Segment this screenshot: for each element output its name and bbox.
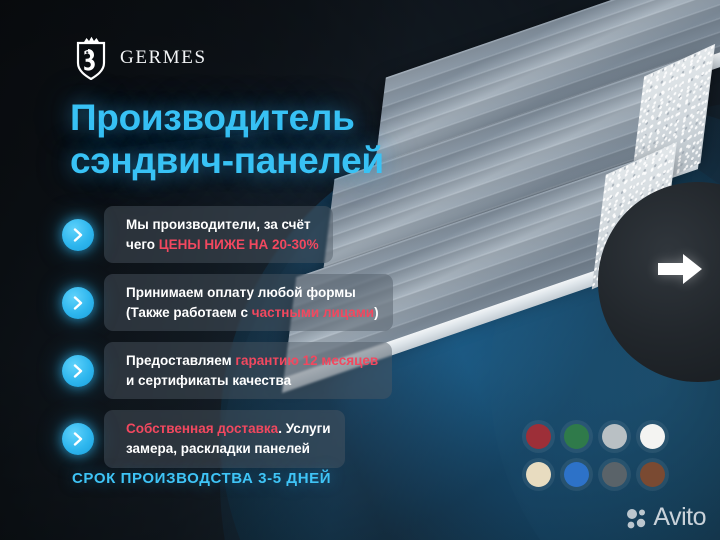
swatch-fill — [526, 424, 551, 449]
headline-line-1: Производитель — [70, 97, 355, 138]
color-swatch-brown[interactable] — [636, 458, 669, 491]
benefit-text-plain: чего — [126, 237, 159, 252]
page-title: Производитель сэндвич-панелей — [70, 96, 470, 183]
benefit-text-accent: гарантию 12 месяцев — [235, 353, 378, 368]
avito-watermark: Avito — [626, 505, 706, 530]
benefits-list: Мы производители, за счёт чего ЦЕНЫ НИЖЕ… — [62, 206, 432, 479]
benefit-line-1: Мы производители, за счёт — [126, 215, 319, 235]
color-swatch-dark-gray[interactable] — [598, 458, 631, 491]
color-swatch-cream[interactable] — [522, 458, 555, 491]
headline-line-2: сэндвич-панелей — [70, 139, 470, 182]
benefit-text: Принимаем оплату любой формы (Также рабо… — [104, 274, 393, 331]
benefit-line-1: Предоставляем гарантию 12 месяцев — [126, 351, 378, 371]
chevron-right-icon — [62, 423, 94, 455]
color-swatch-blue[interactable] — [560, 458, 593, 491]
arrow-right-icon — [658, 252, 702, 286]
swatch-fill — [640, 462, 665, 487]
list-item: Мы производители, за счёт чего ЦЕНЫ НИЖЕ… — [62, 206, 432, 263]
benefit-line-2: чего ЦЕНЫ НИЖЕ НА 20-30% — [126, 235, 319, 255]
avito-dots-icon — [626, 507, 648, 529]
chevron-right-icon — [62, 219, 94, 251]
benefit-text-accent: Собственная доставка — [126, 421, 278, 436]
color-swatch-light-gray[interactable] — [598, 420, 631, 453]
chevron-right-icon — [62, 355, 94, 387]
color-swatch-red[interactable] — [522, 420, 555, 453]
benefit-text: Собственная доставка. Услуги замера, рас… — [104, 410, 345, 467]
benefit-line-2: замера, раскладки панелей — [126, 439, 331, 459]
color-swatch-green[interactable] — [560, 420, 593, 453]
benefit-text: Мы производители, за счёт чего ЦЕНЫ НИЖЕ… — [104, 206, 333, 263]
benefit-text: Предоставляем гарантию 12 месяцев и серт… — [104, 342, 392, 399]
benefit-line-1: Принимаем оплату любой формы — [126, 283, 379, 303]
benefit-text-accent: частными лицами — [252, 305, 374, 320]
brand-name: GERMES — [120, 47, 207, 69]
panel-color-swatches — [522, 420, 669, 491]
swatch-fill — [564, 424, 589, 449]
swatch-fill — [526, 462, 551, 487]
benefit-text-plain: Предоставляем — [126, 353, 235, 368]
benefit-line-2: (Также работаем с частными лицами) — [126, 303, 379, 323]
chevron-right-icon — [62, 287, 94, 319]
brand-logo: GERMES — [72, 36, 207, 80]
swatch-fill — [602, 424, 627, 449]
list-item: Предоставляем гарантию 12 месяцев и серт… — [62, 342, 432, 399]
swatch-fill — [564, 462, 589, 487]
shield-lion-crown-icon — [72, 36, 110, 80]
avito-wordmark: Avito — [653, 505, 706, 530]
benefit-line-1: Собственная доставка. Услуги — [126, 419, 331, 439]
benefit-text-accent: ЦЕНЫ НИЖЕ НА 20-30% — [159, 237, 319, 252]
benefit-text-tail: . Услуги — [278, 421, 330, 436]
swatch-fill — [640, 424, 665, 449]
benefit-text-tail: ) — [374, 305, 379, 320]
swatch-fill — [602, 462, 627, 487]
production-time-note: СРОК ПРОИЗВОДСТВА 3-5 ДНЕЙ — [72, 470, 331, 487]
advertisement-poster: GERMES Производитель сэндвич-панелей Мы … — [0, 0, 720, 540]
benefit-line-2: и сертификаты качества — [126, 371, 378, 391]
benefit-text-plain: (Также работаем с — [126, 305, 252, 320]
color-swatch-white[interactable] — [636, 420, 669, 453]
list-item: Принимаем оплату любой формы (Также рабо… — [62, 274, 432, 331]
list-item: Собственная доставка. Услуги замера, рас… — [62, 410, 432, 467]
